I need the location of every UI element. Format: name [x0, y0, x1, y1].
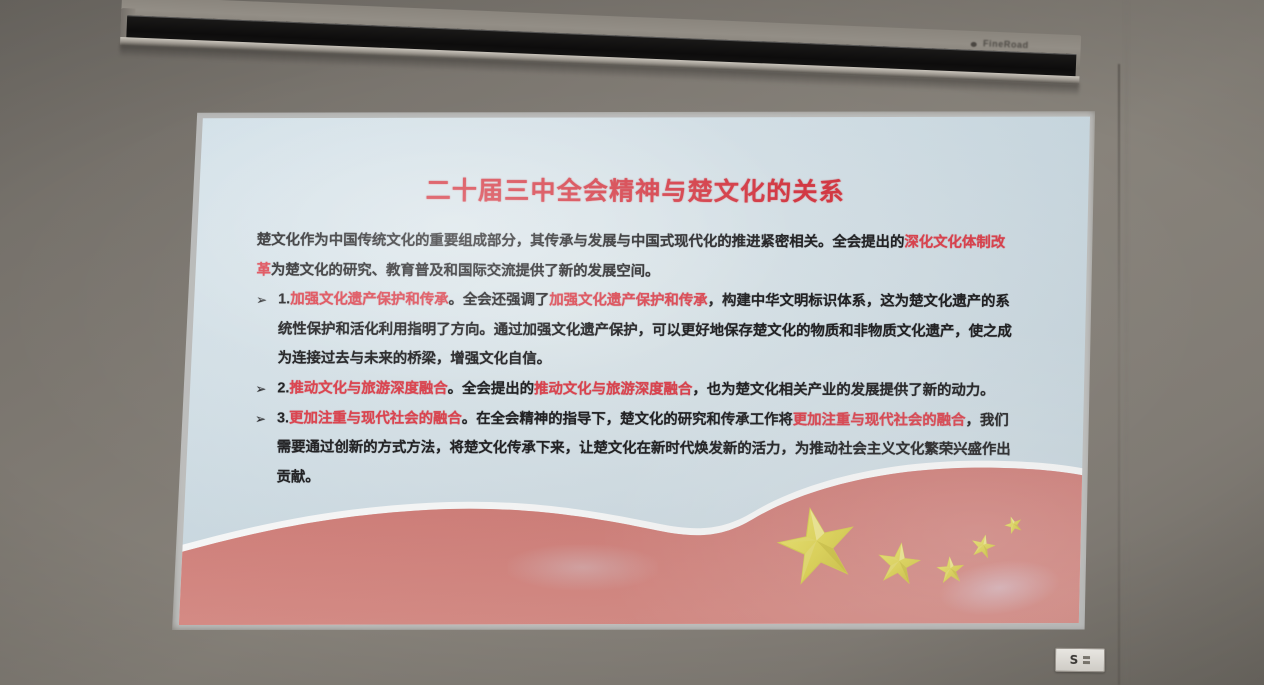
wall-label-barcode [1083, 656, 1090, 664]
bullet-heading: 加强文化遗产保护和传承 [290, 292, 448, 309]
body-text-run: 为楚文化的研究、教育普及和国际交流提供了新的发展空间。 [271, 262, 660, 279]
bullet-text: 2.推动文化与旅游深度融合。全会提出的推动文化与旅游深度融合，也为楚文化相关产业… [277, 374, 1015, 406]
bullet-item-1: ➢1.加强文化遗产保护和传承。全会还强调了加强文化遗产保护和传承，构建中华文明标… [255, 285, 1016, 376]
bullet-number: 2. [277, 380, 289, 396]
highlighted-phrase: 推动文化与旅游深度融合 [534, 381, 692, 398]
wall-panel-seam-outer [1125, 0, 1128, 685]
slide-surface: 二十届三中全会精神与楚文化的关系 楚文化作为中国传统文化的重要组成部分，其传承与… [177, 113, 1090, 628]
wall-label-mark: S [1070, 653, 1079, 667]
star-small-3 [969, 532, 997, 559]
bullet-text: 1.加强文化遗产保护和传承。全会还强调了加强文化遗产保护和传承，构建中华文明标识… [277, 286, 1016, 377]
classroom-scene: FineRoad [0, 0, 1264, 685]
bullet-number: 1. [278, 292, 290, 308]
projected-slide: 二十届三中全会精神与楚文化的关系 楚文化作为中国传统文化的重要组成部分，其传承与… [177, 113, 1090, 628]
highlighted-phrase: 更加注重与现代社会的融合 [793, 412, 966, 429]
gold-stars-group [767, 495, 1058, 616]
highlighted-phrase: 加强文化遗产保护和传承 [549, 292, 707, 309]
bullet-heading: 推动文化与旅游深度融合 [289, 380, 447, 397]
star-small-1 [876, 540, 922, 584]
bullet-arrow-icon: ➢ [255, 404, 266, 434]
projector-screen-housing: FineRoad [119, 0, 1081, 97]
wall-panel-seam [1118, 64, 1120, 685]
body-text-run: 。全会提出的 [448, 381, 535, 397]
bullet-text: 3.更加注重与现代社会的融合。在全会精神的指导下，楚文化的研究和传承工作将更加注… [276, 404, 1015, 495]
bullet-number: 3. [277, 410, 289, 426]
body-text-run: ，也为楚文化相关产业的发展提供了新的动力。 [692, 382, 994, 399]
body-text-run: 。在全会精神的指导下，楚文化的研究和传承工作将 [462, 411, 793, 428]
wall-label-sticker: S [1055, 648, 1105, 673]
star-small-4 [1003, 514, 1025, 535]
bullet-item-2: ➢2.推动文化与旅游深度融合。全会提出的推动文化与旅游深度融合，也为楚文化相关产… [255, 374, 1015, 406]
body-text-run: 。全会还强调了 [448, 292, 549, 308]
bullet-item-3: ➢3.更加注重与现代社会的融合。在全会精神的指导下，楚文化的研究和传承工作将更加… [254, 404, 1015, 495]
intro-paragraph: 楚文化作为中国传统文化的重要组成部分，其传承与发展与中国式现代化的推进紧密相关。… [256, 226, 1017, 288]
bullet-arrow-icon: ➢ [256, 285, 267, 315]
star-small-2 [936, 555, 965, 583]
slide-body: 楚文化作为中国传统文化的重要组成部分，其传承与发展与中国式现代化的推进紧密相关。… [254, 226, 1017, 495]
bullet-heading: 更加注重与现代社会的融合 [289, 410, 462, 427]
bullet-list: ➢1.加强文化遗产保护和传承。全会还强调了加强文化遗产保护和传承，构建中华文明标… [254, 285, 1016, 495]
slide-title: 二十届三中全会精神与楚文化的关系 [181, 170, 1089, 209]
star-large [772, 501, 862, 587]
housing-brand-label: FineRoad [983, 38, 1029, 50]
bullet-arrow-icon: ➢ [255, 374, 266, 404]
body-text-run: 楚文化作为中国传统文化的重要组成部分，其传承与发展与中国式现代化的推进紧密相关。… [257, 232, 905, 250]
